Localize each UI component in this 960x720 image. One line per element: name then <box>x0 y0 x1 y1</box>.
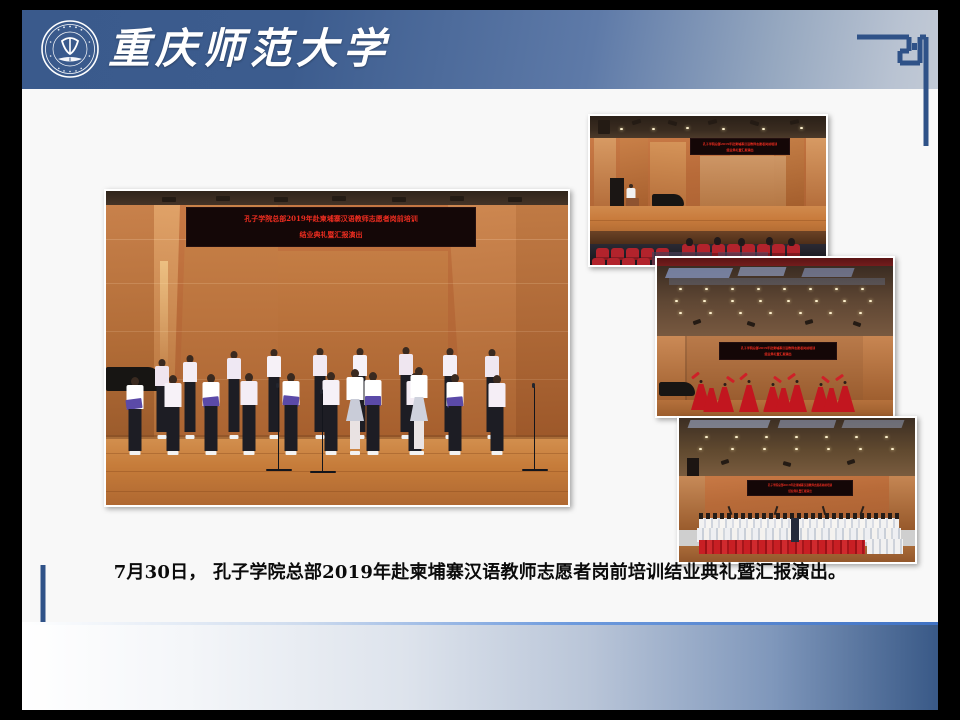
podium-speech-photo[interactable]: 孔子学院总部2019年赴柬埔寨汉语教师志愿者岗前培训 结业典礼暨汇报演出 <box>588 114 828 267</box>
caption-gradient-band <box>22 622 938 710</box>
led-text-line-2: 结业典礼暨汇报演出 <box>726 148 753 152</box>
presentation-slide: 重庆师范大学 <box>22 10 938 710</box>
slide-caption: 7月30日， 孔子学院总部2019年赴柬埔寨汉语教师志愿者岗前培训结业典礼暨汇报… <box>22 558 938 584</box>
led-text-line-1: 孔子学院总部2019年赴柬埔寨汉语教师志愿者岗前培训 <box>768 483 832 487</box>
led-text-line-2: 结业典礼暨汇报演出 <box>764 352 791 356</box>
led-text-line-2: 结业典礼暨汇报演出 <box>788 489 811 493</box>
led-text-line-2: 结业典礼暨汇报演出 <box>300 230 363 240</box>
group-photo[interactable]: 孔子学院总部2019年赴柬埔寨汉语教师志愿者岗前培训 结业典礼暨汇报演出 <box>677 416 917 564</box>
university-name-title: 重庆师范大学 <box>108 18 390 80</box>
choir-performance-photo[interactable]: 孔子学院总部2019年赴柬埔寨汉语教师志愿者岗前培训 结业典礼暨汇报演出 <box>104 189 570 507</box>
header-banner: 重庆师范大学 <box>22 10 938 89</box>
caption-bar: 7月30日， 孔子学院总部2019年赴柬埔寨汉语教师志愿者岗前培训结业典礼暨汇报… <box>22 544 938 710</box>
led-text-line-1: 孔子学院总部2019年赴柬埔寨汉语教师志愿者岗前培训 <box>703 142 777 146</box>
university-emblem-icon <box>40 19 100 79</box>
led-text-line-1: 孔子学院总部2019年赴柬埔寨汉语教师志愿者岗前培训 <box>741 346 815 350</box>
led-text-line-1: 孔子学院总部2019年赴柬埔寨汉语教师志愿者岗前培训 <box>244 214 417 224</box>
red-dress-dance-photo[interactable]: 孔子学院总部2019年赴柬埔寨汉语教师志愿者岗前培训 结业典礼暨汇报演出 <box>655 256 895 418</box>
photo-collage: 孔子学院总部2019年赴柬埔寨汉语教师志愿者岗前培训 结业典礼暨汇报演出 <box>22 89 938 564</box>
